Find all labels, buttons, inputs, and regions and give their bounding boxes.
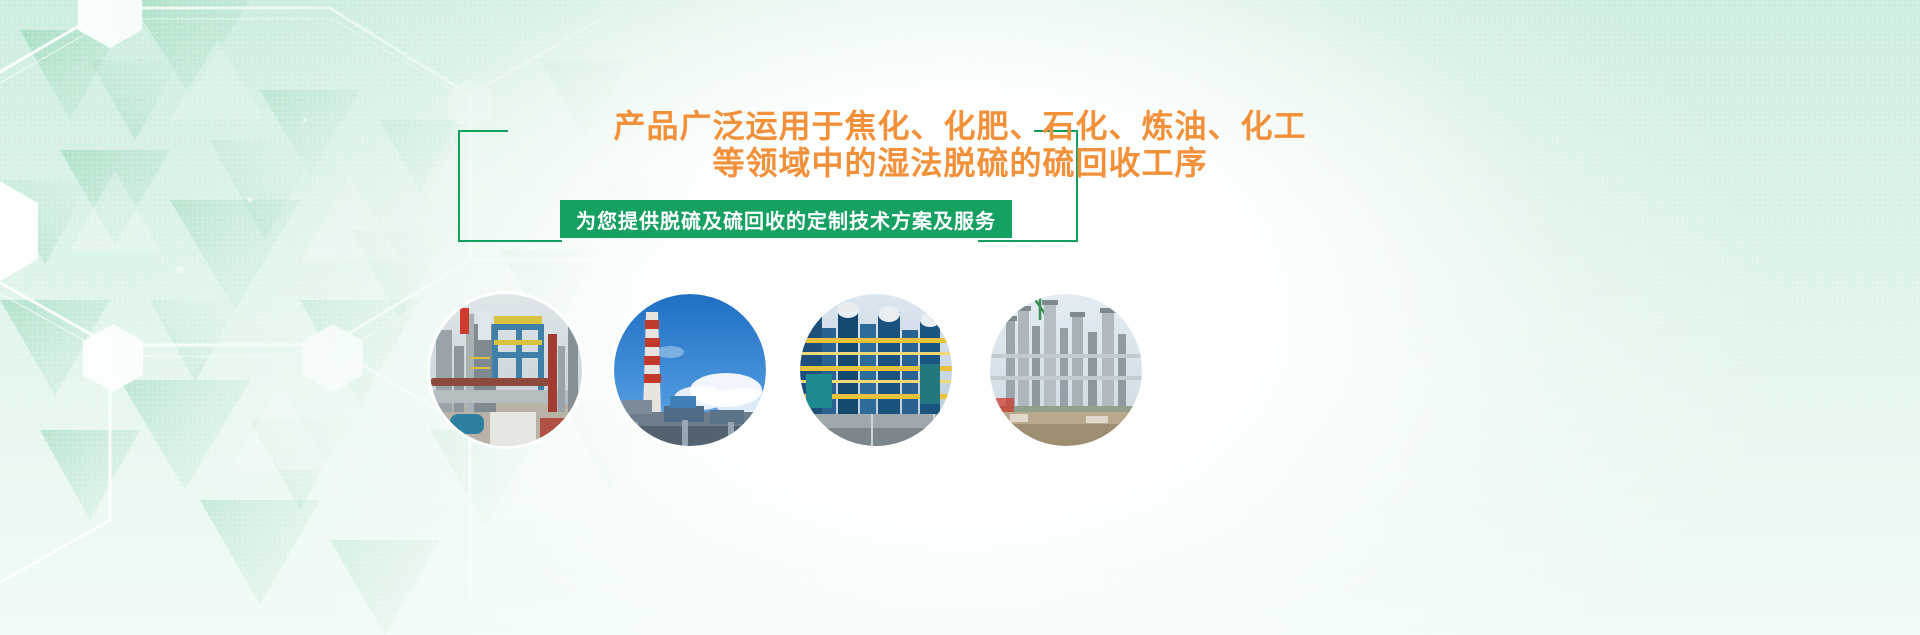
hero-banner: 产品广泛运用于焦化、化肥、石化、炼油、化工 等领域中的湿法脱硫的硫回收工序 为您… bbox=[0, 0, 1920, 635]
bracket-bottom-left-segment bbox=[458, 240, 562, 242]
photo-petrochemical-platform bbox=[800, 294, 952, 446]
photo-refinery-towers bbox=[990, 294, 1142, 446]
photo-2-graphic bbox=[614, 294, 766, 446]
photo-4-graphic bbox=[990, 294, 1142, 446]
headline: 产品广泛运用于焦化、化肥、石化、炼油、化工 等领域中的湿法脱硫的硫回收工序 bbox=[0, 108, 1920, 182]
bracket-bottom-right-segment bbox=[978, 240, 1078, 242]
headline-line-1: 产品广泛运用于焦化、化肥、石化、炼油、化工 bbox=[0, 108, 1920, 145]
subtitle-bar: 为您提供脱硫及硫回收的定制技术方案及服务 bbox=[560, 200, 1012, 238]
banner-content: 产品广泛运用于焦化、化肥、石化、炼油、化工 等领域中的湿法脱硫的硫回收工序 为您… bbox=[0, 0, 1920, 635]
photo-row bbox=[0, 294, 1920, 454]
subtitle-text: 为您提供脱硫及硫回收的定制技术方案及服务 bbox=[576, 205, 996, 234]
photo-sulfur-recovery-plant-piping bbox=[430, 294, 582, 446]
photo-3-graphic bbox=[800, 294, 952, 446]
headline-line-2: 等领域中的湿法脱硫的硫回收工序 bbox=[0, 145, 1920, 182]
photo-chimney-stack-blue-sky bbox=[614, 294, 766, 446]
photo-1-graphic bbox=[430, 294, 582, 446]
